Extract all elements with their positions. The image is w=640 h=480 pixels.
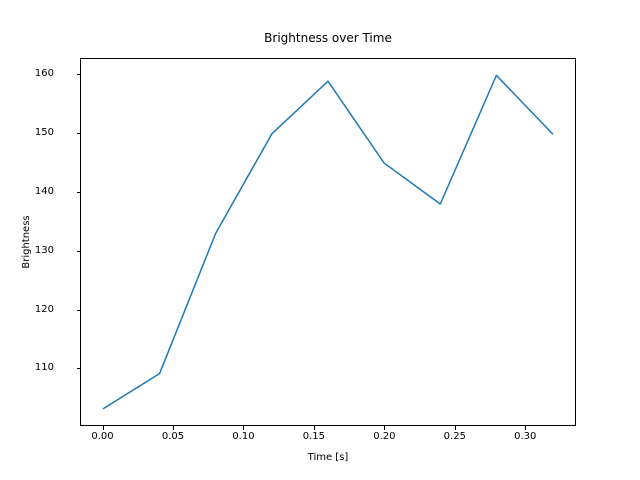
y-tick-mark (77, 192, 81, 193)
x-tick-mark (103, 426, 104, 430)
x-tick-mark (384, 426, 385, 430)
x-tick-mark (173, 426, 174, 430)
x-tick-label: 0.15 (284, 431, 344, 443)
x-axis-label: Time [s] (80, 452, 576, 464)
y-tick-mark (77, 133, 81, 134)
x-tick-label: 0.20 (354, 431, 414, 443)
x-tick-label: 0.10 (213, 431, 273, 443)
y-tick-mark (77, 74, 81, 75)
y-tick-label: 140 (35, 186, 54, 198)
y-tick-label: 160 (35, 68, 54, 80)
x-tick-label: 0.05 (143, 431, 203, 443)
y-tick-label: 150 (35, 127, 54, 139)
y-axis-label: Brightness (20, 58, 34, 426)
x-tick-mark (243, 426, 244, 430)
chart-figure: Brightness over Time 110120130140150160 … (0, 0, 640, 480)
plot-area (80, 58, 576, 426)
brightness-line (103, 75, 552, 408)
y-tick-mark (77, 251, 81, 252)
y-tick-mark (77, 368, 81, 369)
chart-title: Brightness over Time (80, 30, 576, 46)
x-tick-label: 0.30 (495, 431, 555, 443)
x-tick-label: 0.25 (425, 431, 485, 443)
y-tick-label: 130 (35, 245, 54, 257)
x-tick-mark (314, 426, 315, 430)
x-tick-mark (525, 426, 526, 430)
y-tick-label: 120 (35, 304, 54, 316)
x-tick-mark (455, 426, 456, 430)
x-tick-label: 0.00 (73, 431, 133, 443)
y-tick-mark (77, 310, 81, 311)
y-tick-label: 110 (35, 362, 54, 374)
line-series-svg (81, 59, 575, 425)
